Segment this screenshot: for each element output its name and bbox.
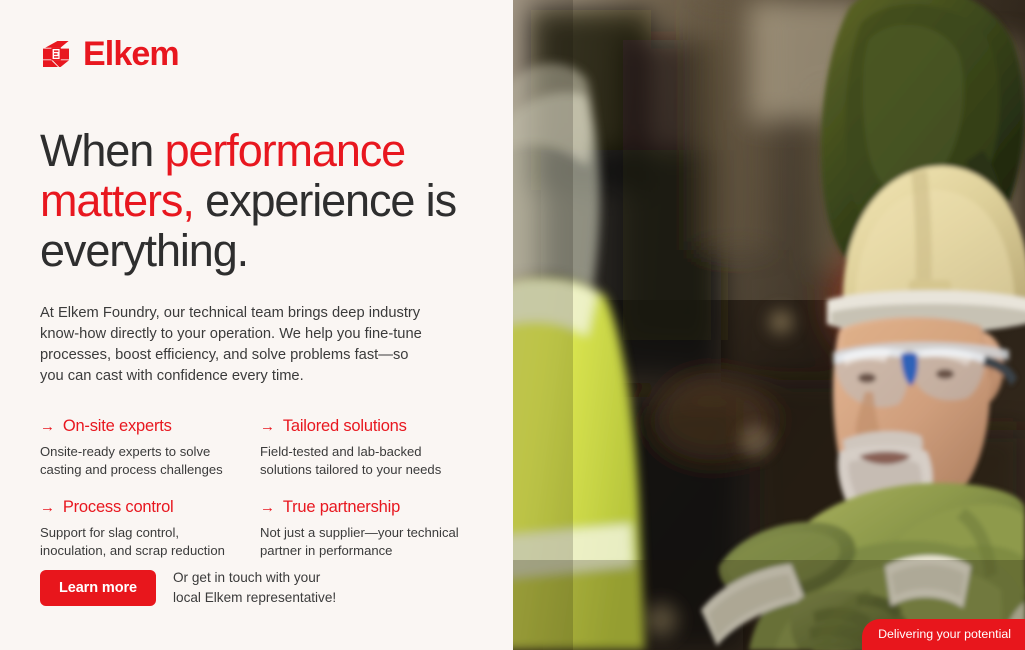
headline-segment-1: When — [40, 125, 165, 176]
feature-heading: → On-site experts — [40, 416, 260, 437]
arrow-right-icon: → — [40, 417, 55, 437]
tagline-badge: Delivering your potential — [862, 619, 1025, 650]
content-panel: Elkem When performance matters, experien… — [0, 0, 513, 650]
elkem-e-mark-icon — [40, 38, 72, 70]
headline-highlight-performance: performance — [165, 125, 406, 176]
feature-grid: → On-site experts Onsite-ready experts t… — [40, 416, 470, 559]
feature-title: On-site experts — [63, 416, 172, 436]
brand-name: Elkem — [83, 37, 179, 71]
feature-description: Field-tested and lab-backed solutions ta… — [260, 443, 460, 478]
headline-highlight-matters: matters, — [40, 175, 194, 226]
arrow-right-icon: → — [260, 417, 275, 437]
feature-title: Process control — [63, 497, 174, 517]
feature-description: Not just a supplier—your technical partn… — [260, 524, 460, 559]
feature-item-tailored-solutions[interactable]: → Tailored solutions Field-tested and la… — [260, 416, 470, 478]
contact-note: Or get in touch with your local Elkem re… — [173, 568, 348, 607]
foundry-worker-photo-illustration — [513, 0, 1025, 650]
feature-heading: → True partnership — [260, 497, 470, 518]
arrow-right-icon: → — [260, 498, 275, 518]
feature-item-on-site-experts[interactable]: → On-site experts Onsite-ready experts t… — [40, 416, 260, 478]
feature-description: Onsite-ready experts to solve casting an… — [40, 443, 240, 478]
hero-page: Elkem When performance matters, experien… — [0, 0, 1025, 650]
feature-heading: → Process control — [40, 497, 260, 518]
brand-logo[interactable]: Elkem — [40, 34, 473, 74]
learn-more-button[interactable]: Learn more — [40, 570, 156, 606]
feature-description: Support for slag control, inoculation, a… — [40, 524, 240, 559]
arrow-right-icon: → — [40, 498, 55, 518]
page-title: When performance matters, experience is … — [40, 126, 460, 276]
feature-item-true-partnership[interactable]: → True partnership Not just a supplier—y… — [260, 497, 470, 559]
feature-title: True partnership — [283, 497, 400, 517]
hero-photo: Delivering your potential — [513, 0, 1025, 650]
feature-item-process-control[interactable]: → Process control Support for slag contr… — [40, 497, 260, 559]
intro-paragraph: At Elkem Foundry, our technical team bri… — [40, 303, 432, 387]
feature-heading: → Tailored solutions — [260, 416, 470, 437]
feature-title: Tailored solutions — [283, 416, 407, 436]
cta-row: Learn more Or get in touch with your loc… — [40, 568, 348, 607]
